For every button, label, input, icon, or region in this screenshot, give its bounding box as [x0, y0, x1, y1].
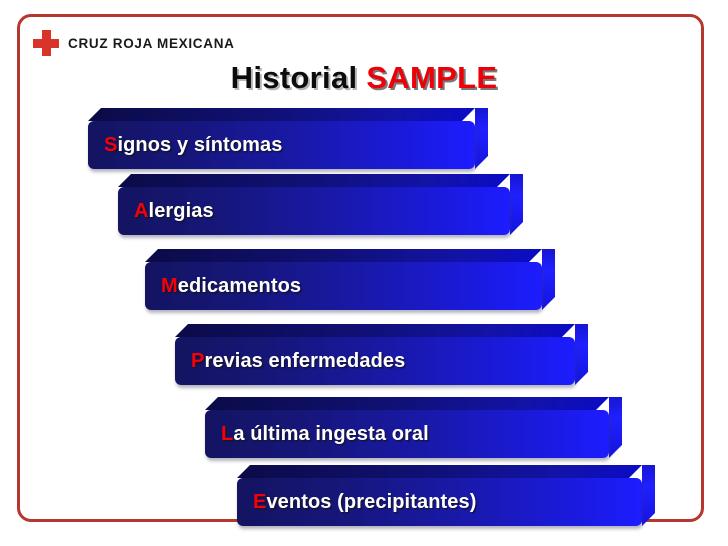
sample-bar-m[interactable]: Medicamentos — [145, 262, 542, 310]
organization-logo: CRUZ ROJA MEXICANA — [33, 30, 235, 56]
bar-label: Previas enfermedades — [175, 350, 405, 373]
bar-top-face — [145, 249, 542, 262]
bar-label-initial: S — [104, 134, 117, 156]
bar-label-rest: a última ingesta oral — [233, 423, 429, 445]
page-title-primary: Historial — [231, 60, 367, 95]
sample-bar-p[interactable]: Previas enfermedades — [175, 337, 575, 385]
bar-label-initial: A — [134, 200, 149, 222]
organization-name: CRUZ ROJA MEXICANA — [68, 36, 235, 51]
sample-bar-l[interactable]: La última ingesta oral — [205, 410, 609, 458]
bar-front-face: Eventos (precipitantes) — [237, 478, 642, 526]
bar-top-face — [237, 465, 642, 478]
bar-label: Medicamentos — [145, 275, 301, 298]
slide-canvas: CRUZ ROJA MEXICANA Historial SAMPLE Sign… — [0, 0, 728, 546]
bar-front-face: La última ingesta oral — [205, 410, 609, 458]
bar-front-face: Signos y síntomas — [88, 121, 475, 169]
bar-front-face: Medicamentos — [145, 262, 542, 310]
bar-front-face: Alergias — [118, 187, 510, 235]
page-title: Historial SAMPLE — [0, 62, 728, 93]
red-cross-icon — [33, 30, 59, 56]
bar-top-face — [118, 174, 510, 187]
sample-bar-a[interactable]: Alergias — [118, 187, 510, 235]
bar-label: La última ingesta oral — [205, 423, 429, 446]
bar-label-rest: edicamentos — [178, 275, 301, 297]
bar-top-face — [175, 324, 575, 337]
bar-label-initial: E — [253, 491, 266, 513]
bar-top-face — [205, 397, 609, 410]
bar-label-rest: ventos (precipitantes) — [266, 491, 476, 513]
bar-front-face: Previas enfermedades — [175, 337, 575, 385]
bar-label-initial: P — [191, 350, 204, 372]
bar-label-rest: lergias — [149, 200, 214, 222]
bar-label-initial: M — [161, 275, 178, 297]
bar-label: Signos y síntomas — [88, 134, 282, 157]
bar-top-face — [88, 108, 475, 121]
bar-label-rest: revias enfermedades — [204, 350, 405, 372]
page-title-accent: SAMPLE — [366, 60, 497, 95]
sample-bar-s[interactable]: Signos y síntomas — [88, 121, 475, 169]
bar-label-rest: ignos y síntomas — [117, 134, 282, 156]
bar-label: Eventos (precipitantes) — [237, 491, 476, 514]
bar-label: Alergias — [118, 200, 214, 223]
bar-label-initial: L — [221, 423, 233, 445]
red-cross-vertical-bar — [42, 30, 51, 56]
sample-bar-e[interactable]: Eventos (precipitantes) — [237, 478, 642, 526]
